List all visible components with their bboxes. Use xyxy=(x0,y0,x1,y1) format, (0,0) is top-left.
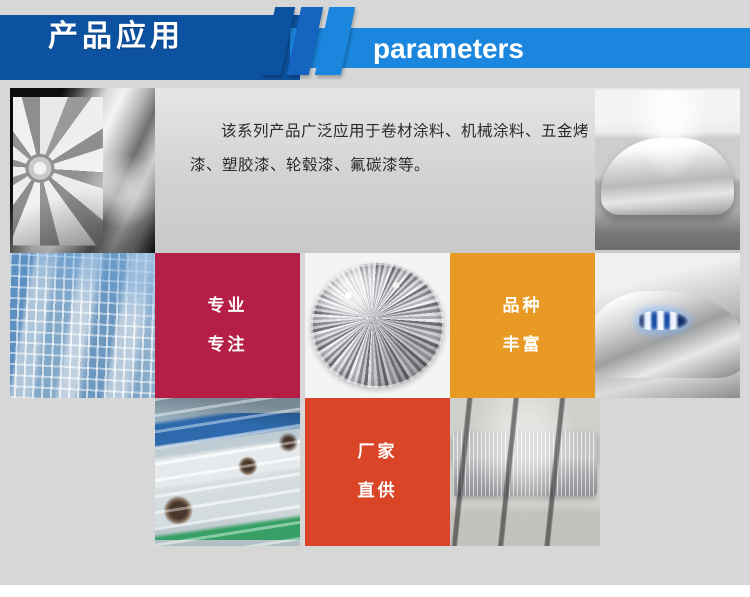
page-root: 产品应用 parameters 该系列产品广泛应用于卷材涂料、机械涂料、五金烤漆… xyxy=(0,0,750,597)
aluminium-paste-artwork xyxy=(305,253,450,398)
image-concept-car-front xyxy=(595,253,740,398)
content-grid: 该系列产品广泛应用于卷材涂料、机械涂料、五金烤漆、塑胶漆、轮毂漆、氟碳漆等。 专… xyxy=(10,88,740,546)
page-title: 产品应用 xyxy=(48,22,184,52)
page-subtitle: parameters xyxy=(373,31,524,67)
tile-professional-line2: 专注 xyxy=(208,337,248,354)
bottom-white-strip xyxy=(0,585,750,597)
coil-coating-rolls-artwork xyxy=(155,398,300,546)
tile-variety-line1: 品种 xyxy=(503,298,543,315)
tile-variety-line2: 丰富 xyxy=(503,337,543,354)
spray-booth-car-artwork xyxy=(595,90,740,250)
alloy-wheel-car-artwork xyxy=(10,88,155,253)
concept-car-front-artwork xyxy=(595,253,740,398)
image-coil-coating-rolls xyxy=(155,398,300,546)
image-glass-skyscraper xyxy=(10,253,155,398)
page-header: 产品应用 parameters xyxy=(0,0,750,80)
glass-skyscraper-artwork xyxy=(10,253,155,398)
tile-professional: 专业 专注 xyxy=(155,253,300,398)
tile-factory-direct: 厂家 直供 xyxy=(305,398,450,546)
image-spray-booth-car xyxy=(595,90,740,250)
image-aluminium-paste-dish xyxy=(305,253,450,398)
intro-text: 该系列产品广泛应用于卷材涂料、机械涂料、五金烤漆、塑胶漆、轮毂漆、氟碳漆等。 xyxy=(190,114,605,182)
tile-factory-direct-line1: 厂家 xyxy=(358,444,398,461)
tile-professional-line1: 专业 xyxy=(208,298,248,315)
tile-factory-direct-line2: 直供 xyxy=(358,483,398,500)
stainless-steel-bench-artwork xyxy=(450,398,600,546)
image-stainless-steel-bench xyxy=(450,398,600,546)
image-alloy-wheel-car xyxy=(10,88,155,253)
tile-variety: 品种 丰富 xyxy=(450,253,595,398)
